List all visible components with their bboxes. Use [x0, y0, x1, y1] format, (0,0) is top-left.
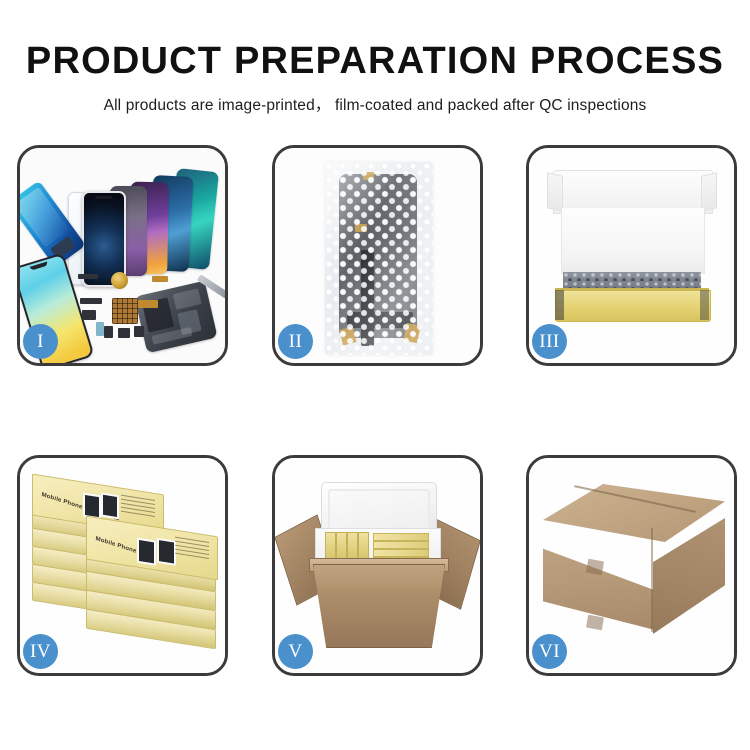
- box-lid-right-flap: [701, 172, 717, 211]
- small-screw-part: [104, 326, 113, 338]
- step-badge-2: II: [278, 324, 313, 359]
- sim-tray-part: [96, 322, 104, 336]
- carton-tape-mark: [586, 615, 604, 631]
- box-right-corner: [700, 290, 709, 320]
- process-step-grid: I II: [0, 0, 750, 750]
- process-step-2: II: [272, 145, 483, 366]
- box-print-thumbnail: [137, 538, 156, 566]
- process-step-5: V: [272, 455, 483, 676]
- process-step-4: Mobile Phone Spare Parts Mobile Phone Sp…: [17, 455, 228, 676]
- screw-tray-icon: [112, 298, 138, 324]
- box-inner-wall: [561, 208, 705, 274]
- antenna-flex-part: [138, 300, 158, 308]
- step-badge-3: III: [532, 324, 567, 359]
- phone-notch: [30, 262, 48, 271]
- box-left-corner: [555, 290, 564, 320]
- carton-body: [313, 564, 445, 648]
- bubble-wrap-bag: [325, 162, 433, 355]
- bag-gloss-highlight: [325, 162, 433, 355]
- taptic-part: [134, 326, 144, 337]
- box-front-panel: [555, 290, 711, 322]
- battery-strip-part: [78, 274, 98, 279]
- box-lid-left-flap: [547, 172, 563, 211]
- box-print-thumbnail: [101, 492, 119, 519]
- inner-box-open: [547, 170, 717, 322]
- vibrator-part: [118, 328, 130, 338]
- step-badge-6: VI: [532, 634, 567, 669]
- phone-notch: [96, 196, 112, 199]
- process-step-3: III: [526, 145, 737, 366]
- housing-board: [173, 288, 202, 309]
- box-print-text-lines: [175, 537, 209, 568]
- step-badge-4: IV: [23, 634, 58, 669]
- retail-box-stack: Mobile Phone Spare Parts Mobile Phone Sp…: [30, 476, 218, 652]
- carton-top-face: [543, 484, 725, 542]
- carton-tape-mark: [586, 559, 604, 576]
- carton-vertical-edge: [651, 528, 653, 632]
- step-badge-5: V: [278, 634, 313, 669]
- step-badge-1: I: [23, 324, 58, 359]
- bracket-part: [82, 310, 96, 320]
- camera-flex-part: [80, 298, 102, 304]
- flex-cable-part: [152, 276, 168, 282]
- speaker-part-icon: [111, 272, 128, 289]
- process-step-1: I: [17, 145, 228, 366]
- carton-with-foam-crate: [283, 478, 473, 654]
- box-print-thumbnail: [157, 538, 176, 566]
- process-step-6: VI: [526, 455, 737, 676]
- sealed-carton: [543, 484, 725, 642]
